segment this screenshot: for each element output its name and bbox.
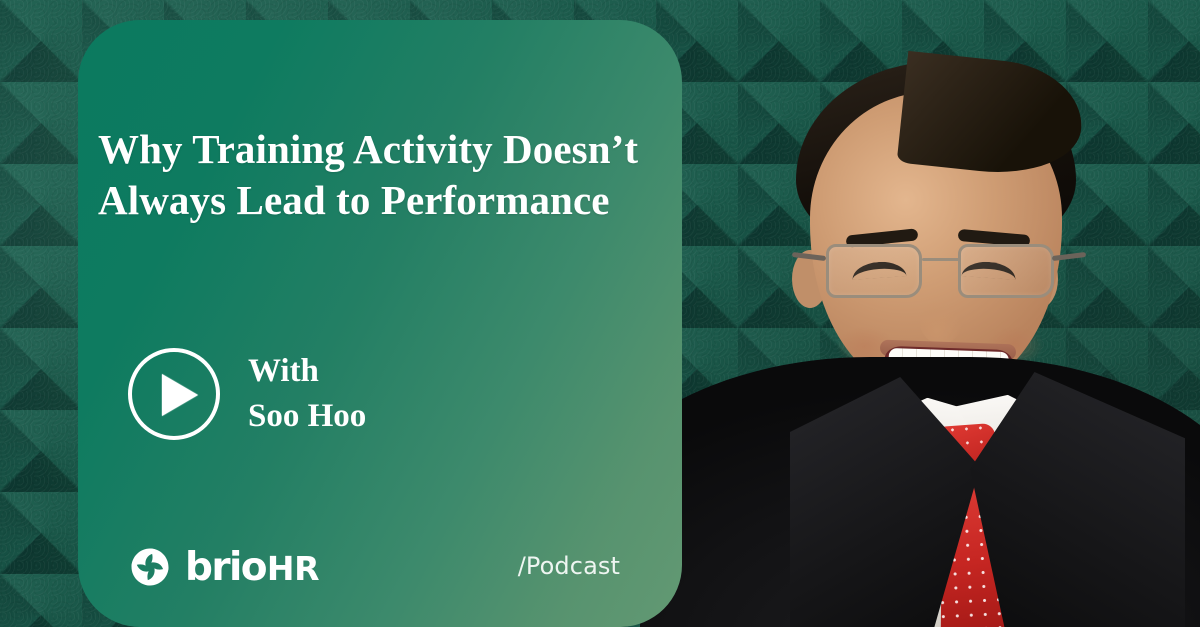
guest-credit-text: With Soo Hoo	[248, 349, 366, 438]
portrait-stage	[640, 0, 1200, 627]
brand-name-primary: brio	[185, 548, 266, 587]
eyeglasses	[826, 244, 1054, 306]
page-title: Why Training Activity Doesn’t Always Lea…	[98, 124, 668, 226]
card-inner: Why Training Activity Doesn’t Always Lea…	[78, 20, 682, 627]
with-label: With	[248, 349, 366, 394]
brand-wordmark: brioHR	[185, 548, 319, 587]
podcast-cover-canvas: Why Training Activity Doesn’t Always Lea…	[0, 0, 1200, 627]
guest-name: Soo Hoo	[248, 394, 366, 439]
lens-left	[826, 244, 922, 298]
play-button[interactable]	[128, 348, 220, 440]
lens-right	[958, 244, 1054, 298]
play-icon	[162, 374, 198, 416]
nose	[920, 300, 962, 344]
brand-logo[interactable]: brioHR	[128, 545, 319, 589]
card-footer: brioHR /Podcast	[128, 545, 636, 589]
brand-name-secondary: HR	[267, 552, 319, 585]
brio-swirl-icon	[128, 545, 172, 589]
guest-credit-block: With Soo Hoo	[128, 348, 366, 440]
glasses-bridge	[922, 258, 960, 261]
category-label: /Podcast	[518, 552, 620, 580]
guest-portrait	[640, 0, 1200, 627]
podcast-card: Why Training Activity Doesn’t Always Lea…	[78, 20, 682, 627]
